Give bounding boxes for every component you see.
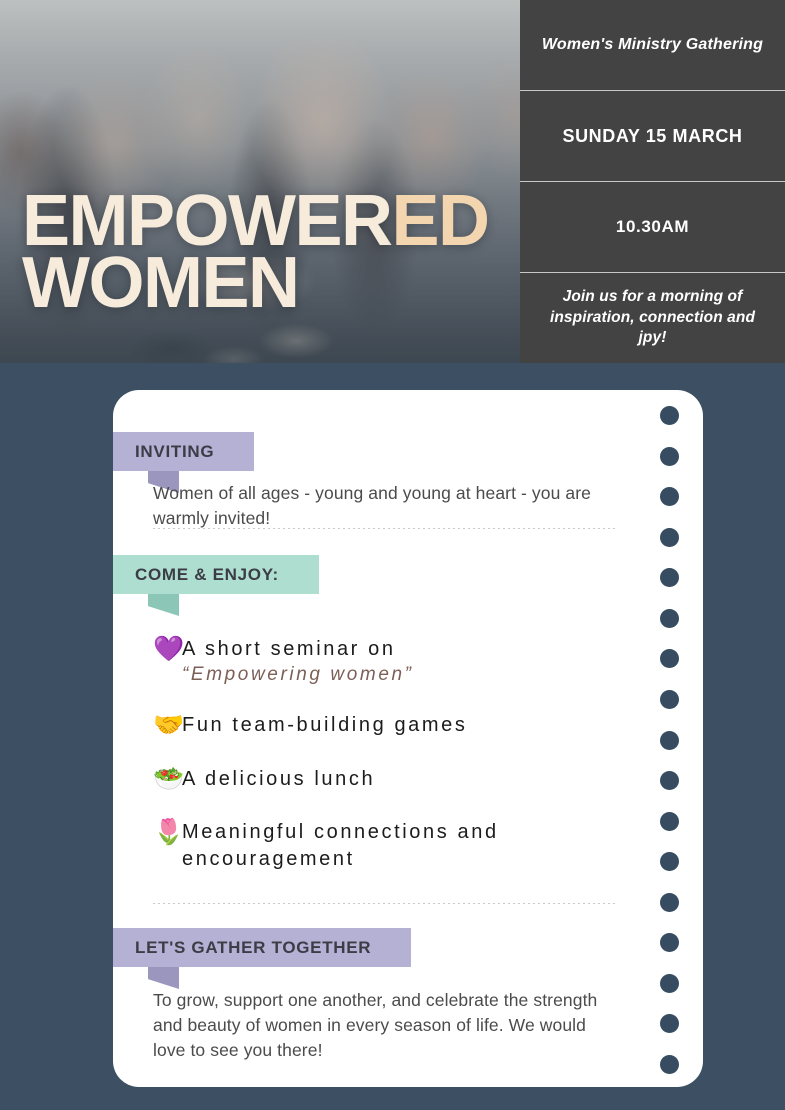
- feature-list: 💜 A short seminar on “Empowering women” …: [153, 636, 633, 872]
- info-cell-time: 10.30AM: [520, 182, 785, 273]
- inviting-body-text: Women of all ages - young and young at h…: [153, 481, 618, 531]
- rail-dot: [660, 974, 679, 993]
- banner-inviting: INVITING: [113, 432, 254, 471]
- feature-item: 🌷 Meaningful connections and encourageme…: [153, 819, 633, 872]
- divider-bottom: [153, 903, 618, 904]
- rail-dot: [660, 852, 679, 871]
- rail-dot: [660, 487, 679, 506]
- ministry-name-label: Women's Ministry Gathering: [542, 35, 763, 55]
- banner-come-enjoy-wrap: COME & ENJOY:: [148, 555, 319, 594]
- dot-rail-decoration: [658, 406, 680, 1074]
- feature-text: Meaningful connections and encouragement: [182, 819, 633, 872]
- salad-bowl-icon: 🥗: [153, 767, 182, 792]
- event-blurb-label: Join us for a morning of inspiration, co…: [534, 287, 771, 348]
- purple-heart-icon: 💜: [153, 637, 182, 662]
- tulip-icon: 🌷: [153, 820, 182, 845]
- feature-quote: “Empowering women”: [182, 662, 633, 687]
- rail-dot: [660, 731, 679, 750]
- banner-come-enjoy: COME & ENJOY:: [113, 555, 319, 594]
- banner-come-enjoy-label: COME & ENJOY:: [135, 565, 279, 585]
- gather-body-text: To grow, support one another, and celebr…: [153, 988, 621, 1063]
- rail-dot: [660, 447, 679, 466]
- feature-item: 🥗 A delicious lunch: [153, 766, 633, 792]
- divider-top: [153, 528, 618, 529]
- poster-canvas: EMPOWERED WOMEN Women's Ministry Gatheri…: [0, 0, 785, 1110]
- feature-text: Fun team-building games: [182, 712, 633, 738]
- rail-dot: [660, 568, 679, 587]
- banner-inviting-wrap: INVITING: [148, 432, 254, 471]
- feature-item: 🤝 Fun team-building games: [153, 712, 633, 738]
- rail-dot: [660, 812, 679, 831]
- content-card: INVITING Women of all ages - young and y…: [113, 390, 703, 1087]
- rail-dot: [660, 609, 679, 628]
- rail-dot: [660, 771, 679, 790]
- poster-title: EMPOWERED WOMEN: [22, 191, 489, 315]
- rail-dot: [660, 1055, 679, 1074]
- event-date-label: SUNDAY 15 MARCH: [562, 126, 742, 147]
- banner-inviting-label: INVITING: [135, 442, 214, 462]
- rail-dot: [660, 933, 679, 952]
- rail-dot: [660, 406, 679, 425]
- rail-dot: [660, 1014, 679, 1033]
- event-info-column: Women's Ministry Gathering SUNDAY 15 MAR…: [520, 0, 785, 363]
- banner-gather-fold: [148, 967, 179, 989]
- card-content: INVITING Women of all ages - young and y…: [113, 390, 633, 1087]
- rail-dot: [660, 893, 679, 912]
- banner-gather-fold-shade: [148, 967, 179, 989]
- banner-gather: LET'S GATHER TOGETHER: [113, 928, 411, 967]
- feature-item: 💜 A short seminar on “Empowering women”: [153, 636, 633, 687]
- banner-gather-wrap: LET'S GATHER TOGETHER: [148, 928, 411, 967]
- feature-text: A short seminar on: [182, 636, 633, 662]
- event-time-label: 10.30AM: [616, 217, 689, 237]
- feature-text: A delicious lunch: [182, 766, 633, 792]
- hero-photo-block: EMPOWERED WOMEN: [0, 0, 520, 363]
- rail-dot: [660, 649, 679, 668]
- handshake-icon: 🤝: [153, 713, 182, 738]
- banner-come-enjoy-fold-shade: [148, 594, 179, 616]
- info-cell-date: SUNDAY 15 MARCH: [520, 91, 785, 182]
- title-line-2: WOMEN: [22, 253, 489, 315]
- banner-gather-label: LET'S GATHER TOGETHER: [135, 938, 371, 958]
- info-cell-blurb: Join us for a morning of inspiration, co…: [520, 273, 785, 363]
- info-cell-kicker: Women's Ministry Gathering: [520, 0, 785, 91]
- rail-dot: [660, 528, 679, 547]
- rail-dot: [660, 690, 679, 709]
- title-part-ed: ED: [392, 181, 489, 261]
- banner-come-enjoy-fold: [148, 594, 179, 616]
